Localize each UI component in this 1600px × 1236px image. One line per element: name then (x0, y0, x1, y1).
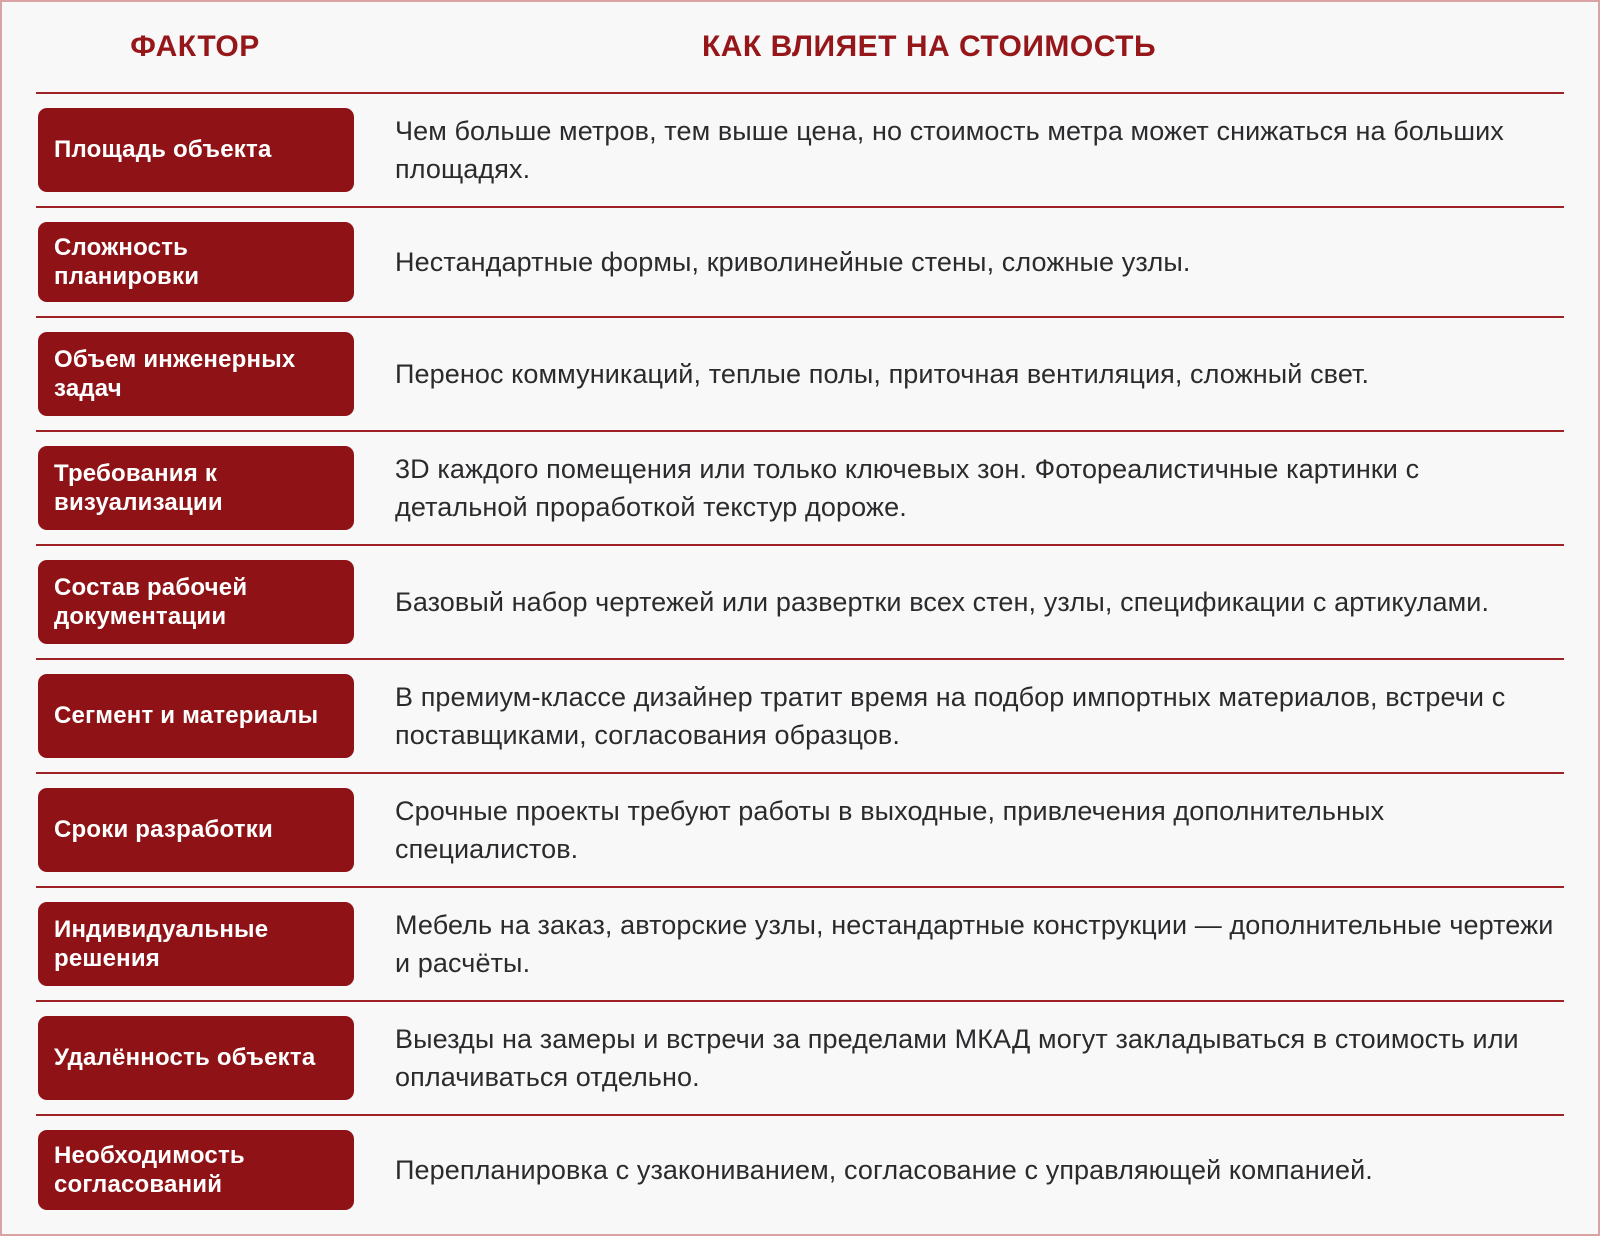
table-header: ФАКТОР КАК ВЛИЯЕТ НА СТОИМОСТЬ (2, 2, 1598, 92)
table-row: Сложность планировкиНестандартные формы,… (36, 206, 1564, 316)
factor-badge[interactable]: Удалённость объекта (38, 1016, 354, 1100)
factor-cell: Объем инженерных задач (36, 318, 354, 430)
header-factor-label: ФАКТОР (36, 32, 354, 62)
factor-cell: Площадь объекта (36, 94, 354, 206)
factor-badge[interactable]: Сегмент и материалы (38, 674, 354, 758)
table-row: Состав рабочей документацииБазовый набор… (36, 544, 1564, 658)
table-row: Требования к визуализации3D каждого поме… (36, 430, 1564, 544)
table-row: Площадь объектаЧем больше метров, тем вы… (36, 92, 1564, 206)
impact-description: Перенос коммуникаций, теплые полы, прито… (354, 318, 1564, 430)
factor-cell: Индивидуальные решения (36, 888, 354, 1000)
factor-cell: Необходимость согласований (36, 1116, 354, 1224)
table-row: Сроки разработкиСрочные проекты требуют … (36, 772, 1564, 886)
impact-description: Чем больше метров, тем выше цена, но сто… (354, 94, 1564, 206)
table-row: Индивидуальные решенияМебель на заказ, а… (36, 886, 1564, 1000)
table-row: Сегмент и материалыВ премиум-классе диза… (36, 658, 1564, 772)
factor-badge[interactable]: Индивидуальные решения (38, 902, 354, 986)
impact-description: Мебель на заказ, авторские узлы, нестанд… (354, 888, 1564, 1000)
impact-description: Базовый набор чертежей или развертки все… (354, 546, 1564, 658)
factor-badge[interactable]: Требования к визуализации (38, 446, 354, 530)
impact-description: В премиум-классе дизайнер тратит время н… (354, 660, 1564, 772)
factor-cell: Сложность планировки (36, 208, 354, 316)
factor-cell: Сегмент и материалы (36, 660, 354, 772)
factor-cell: Сроки разработки (36, 774, 354, 886)
header-impact-label: КАК ВЛИЯЕТ НА СТОИМОСТЬ (354, 32, 1564, 62)
factor-badge[interactable]: Объем инженерных задач (38, 332, 354, 416)
table-row: Удалённость объектаВыезды на замеры и вс… (36, 1000, 1564, 1114)
impact-description: Перепланировка с узакониванием, согласов… (354, 1116, 1564, 1224)
factor-badge[interactable]: Необходимость согласований (38, 1130, 354, 1210)
factor-badge[interactable]: Площадь объекта (38, 108, 354, 192)
factor-badge[interactable]: Сложность планировки (38, 222, 354, 302)
impact-description: 3D каждого помещения или только ключевых… (354, 432, 1564, 544)
impact-description: Срочные проекты требуют работы в выходны… (354, 774, 1564, 886)
infographic-page: ФАКТОР КАК ВЛИЯЕТ НА СТОИМОСТЬ Площадь о… (0, 0, 1600, 1236)
factor-cell: Требования к визуализации (36, 432, 354, 544)
table-row: Необходимость согласованийПерепланировка… (36, 1114, 1564, 1224)
factor-badge[interactable]: Сроки разработки (38, 788, 354, 872)
table-row: Объем инженерных задачПеренос коммуникац… (36, 316, 1564, 430)
impact-description: Нестандартные формы, криволинейные стены… (354, 208, 1564, 316)
impact-description: Выезды на замеры и встречи за пределами … (354, 1002, 1564, 1114)
factor-badge[interactable]: Состав рабочей документации (38, 560, 354, 644)
factor-cell: Состав рабочей документации (36, 546, 354, 658)
factor-rows: Площадь объектаЧем больше метров, тем вы… (2, 92, 1598, 1224)
factor-cell: Удалённость объекта (36, 1002, 354, 1114)
